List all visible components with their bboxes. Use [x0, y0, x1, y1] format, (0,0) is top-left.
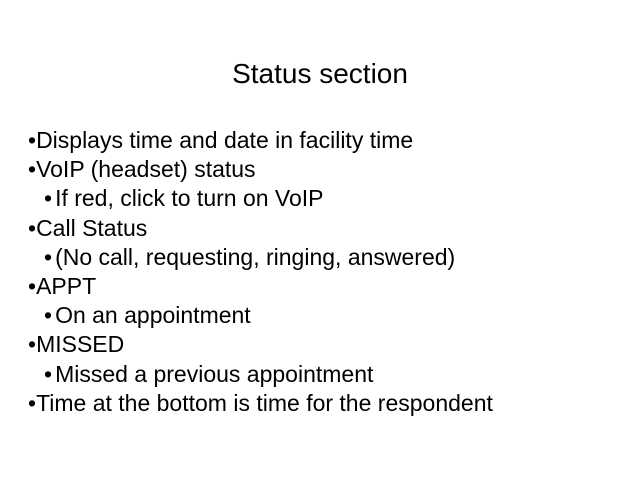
- list-item: •Time at the bottom is time for the resp…: [0, 389, 640, 418]
- list-item-label: MISSED: [36, 331, 124, 357]
- list-item: •Call Status: [0, 214, 640, 243]
- page-title: Status section: [0, 57, 640, 91]
- list-item-label: Call Status: [36, 215, 147, 241]
- list-item-label: APPT: [36, 273, 96, 299]
- list-item: •APPT: [0, 272, 640, 301]
- bullet-icon: •: [44, 185, 52, 211]
- list-item-label: Time at the bottom is time for the respo…: [36, 390, 493, 416]
- list-item-label: If red, click to turn on VoIP: [55, 185, 323, 211]
- list-item-label: Missed a previous appointment: [55, 361, 373, 387]
- bullet-icon: •: [28, 156, 36, 182]
- list-item: •VoIP (headset) status: [0, 155, 640, 184]
- bullet-icon: •: [28, 215, 36, 241]
- list-item: •Missed a previous appointment: [0, 360, 640, 389]
- bullet-icon: •: [44, 244, 52, 270]
- list-item-label: VoIP (headset) status: [36, 156, 256, 182]
- list-item-label: Displays time and date in facility time: [36, 127, 413, 153]
- list-item: •Displays time and date in facility time: [0, 126, 640, 155]
- list-item: •(No call, requesting, ringing, answered…: [0, 243, 640, 272]
- slide-canvas: Status section •Displays time and date i…: [0, 0, 640, 480]
- bullet-icon: •: [28, 273, 36, 299]
- list-item-label: (No call, requesting, ringing, answered): [55, 244, 455, 270]
- bullet-icon: •: [44, 302, 52, 328]
- list-item: •If red, click to turn on VoIP: [0, 184, 640, 213]
- bullet-list: •Displays time and date in facility time…: [0, 126, 640, 418]
- bullet-icon: •: [28, 390, 36, 416]
- list-item: •On an appointment: [0, 301, 640, 330]
- list-item: •MISSED: [0, 330, 640, 359]
- list-item-label: On an appointment: [55, 302, 251, 328]
- bullet-icon: •: [44, 361, 52, 387]
- bullet-icon: •: [28, 331, 36, 357]
- bullet-icon: •: [28, 127, 36, 153]
